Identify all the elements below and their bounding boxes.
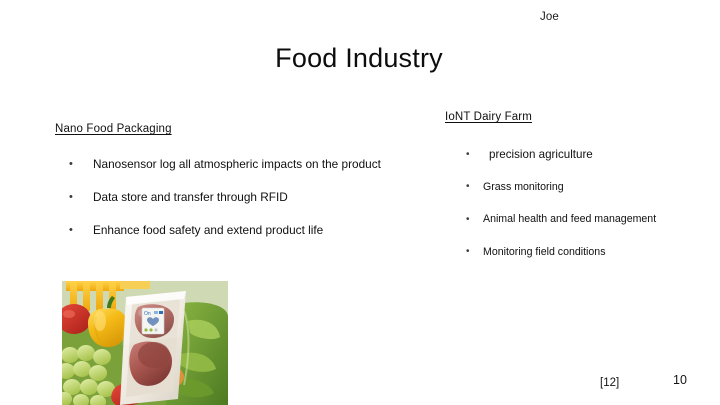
list-item-label: Animal health and feed management [483, 213, 656, 225]
list-item-label: Nanosensor log all atmospheric impacts o… [93, 157, 381, 171]
column-right-heading: IoNT Dairy Farm [445, 110, 700, 125]
bullet-dot-icon: • [69, 222, 73, 239]
list-item-label: Data store and transfer through RFID [93, 190, 288, 204]
citation-reference: [12] [600, 376, 619, 390]
column-left-bullet-list: • Nanosensor log all atmospheric impacts… [55, 156, 405, 239]
meat-tray: On [120, 291, 186, 405]
list-item-label: Monitoring field conditions [483, 246, 606, 258]
list-item: • Nanosensor log all atmospheric impacts… [55, 156, 405, 173]
bullet-dot-icon: • [69, 189, 73, 206]
list-item: • Animal health and feed management [445, 212, 700, 228]
bullet-dot-icon: • [466, 179, 470, 195]
bullet-dot-icon: • [466, 244, 470, 260]
list-item: • Enhance food safety and extend product… [55, 222, 405, 239]
list-item-label: Grass monitoring [483, 181, 564, 193]
list-item: • Monitoring field conditions [445, 245, 700, 261]
food-packaging-photo: On [62, 281, 228, 405]
column-nano-food-packaging: Nano Food Packaging • Nanosensor log all… [55, 122, 405, 255]
page-title: Food Industry [0, 41, 720, 75]
list-item: • precision agriculture [445, 147, 700, 163]
bullet-dot-icon: • [466, 147, 470, 163]
list-item: • Grass monitoring [445, 180, 700, 196]
bullet-dot-icon: • [466, 212, 470, 228]
list-item-label: Enhance food safety and extend product l… [93, 223, 323, 237]
svg-text:On: On [144, 311, 151, 317]
column-iont-dairy-farm: IoNT Dairy Farm • precision agriculture … [445, 110, 700, 277]
column-right-bullet-list: • precision agriculture • Grass monitori… [445, 147, 700, 260]
smart-sensor-label-icon: On [142, 308, 164, 334]
author-name: Joe [540, 10, 559, 24]
food-packaging-photo-illustration: On [62, 281, 228, 405]
list-item-label: precision agriculture [489, 148, 593, 161]
list-item: • Data store and transfer through RFID [55, 189, 405, 206]
slide-canvas: Joe Food Industry Nano Food Packaging • … [0, 0, 720, 405]
bullet-dot-icon: • [69, 156, 73, 173]
column-left-heading: Nano Food Packaging [55, 122, 405, 137]
slide-number: 10 [673, 373, 687, 388]
